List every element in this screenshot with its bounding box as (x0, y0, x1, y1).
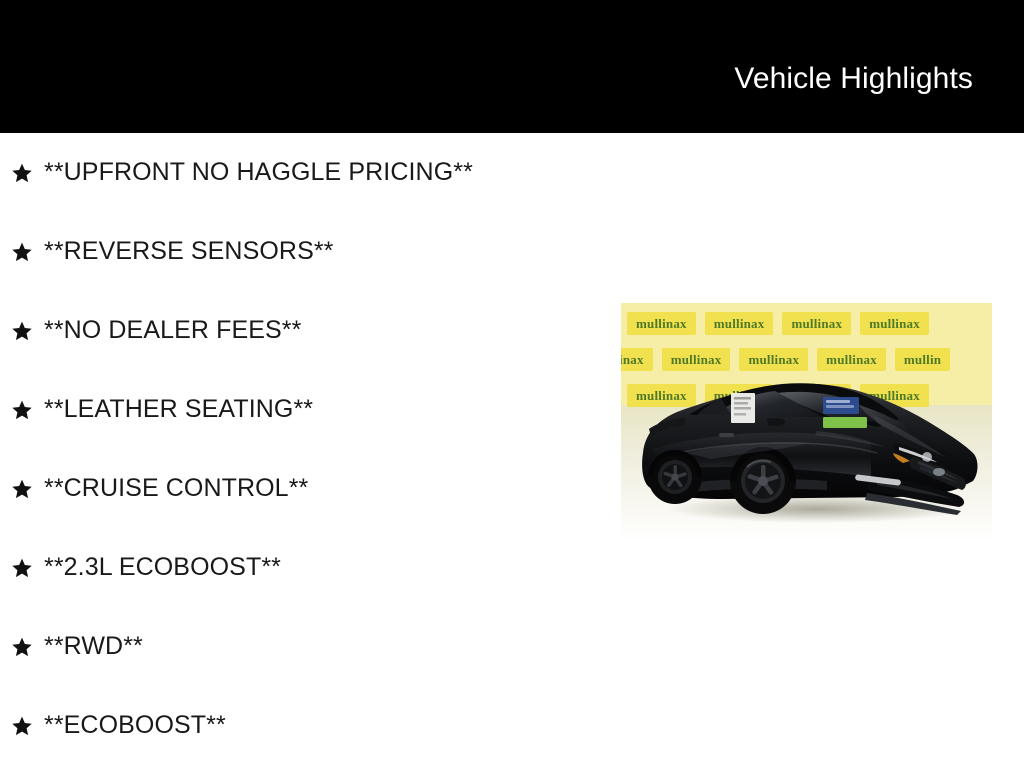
vehicle-highlights-page: Vehicle Highlights **UPFRONT NO HAGGLE P… (0, 0, 1024, 768)
page-title: Vehicle Highlights (734, 38, 1024, 96)
star-icon (11, 715, 33, 737)
star-icon (11, 320, 33, 342)
star-icon (11, 478, 33, 500)
star-icon (11, 557, 33, 579)
list-item: **ECOBOOST** (0, 686, 620, 765)
vehicle-photo: mullinax mullinax mullinax mullinax ulli… (621, 303, 992, 541)
star-icon (11, 241, 33, 263)
star-icon (11, 399, 33, 421)
list-item: **2.3L ECOBOOST** (0, 528, 620, 607)
highlight-label: **LEATHER SEATING** (44, 397, 313, 422)
highlight-label: **CRUISE CONTROL** (44, 476, 308, 501)
list-item: **NO DEALER FEES** (0, 291, 620, 370)
mullinax-logo-tile: mullinax (627, 312, 696, 335)
backdrop-tile-row: mullinax mullinax mullinax mullinax (627, 312, 929, 335)
list-item: **UPFRONT NO HAGGLE PRICING** (0, 133, 620, 212)
list-item: **CRUISE CONTROL** (0, 449, 620, 528)
list-item: **LEATHER SEATING** (0, 370, 620, 449)
vehicle-image (627, 357, 985, 527)
mullinax-logo-tile: mullinax (782, 312, 851, 335)
list-item: **REVERSE SENSORS** (0, 212, 620, 291)
mullinax-logo-tile: mullinax (860, 312, 929, 335)
vehicle-highlights-list: **UPFRONT NO HAGGLE PRICING** **REVERSE … (0, 133, 620, 765)
mullinax-logo-tile: mullinax (705, 312, 774, 335)
highlight-label: **ECOBOOST** (44, 713, 226, 738)
highlight-label: **NO DEALER FEES** (44, 318, 301, 343)
header-banner: Vehicle Highlights (0, 0, 1024, 133)
highlight-label: **RWD** (44, 634, 143, 659)
highlight-label: **REVERSE SENSORS** (44, 239, 334, 264)
star-icon (11, 636, 33, 658)
star-icon (11, 162, 33, 184)
highlight-label: **UPFRONT NO HAGGLE PRICING** (44, 160, 473, 185)
highlight-label: **2.3L ECOBOOST** (44, 555, 281, 580)
list-item: **RWD** (0, 607, 620, 686)
